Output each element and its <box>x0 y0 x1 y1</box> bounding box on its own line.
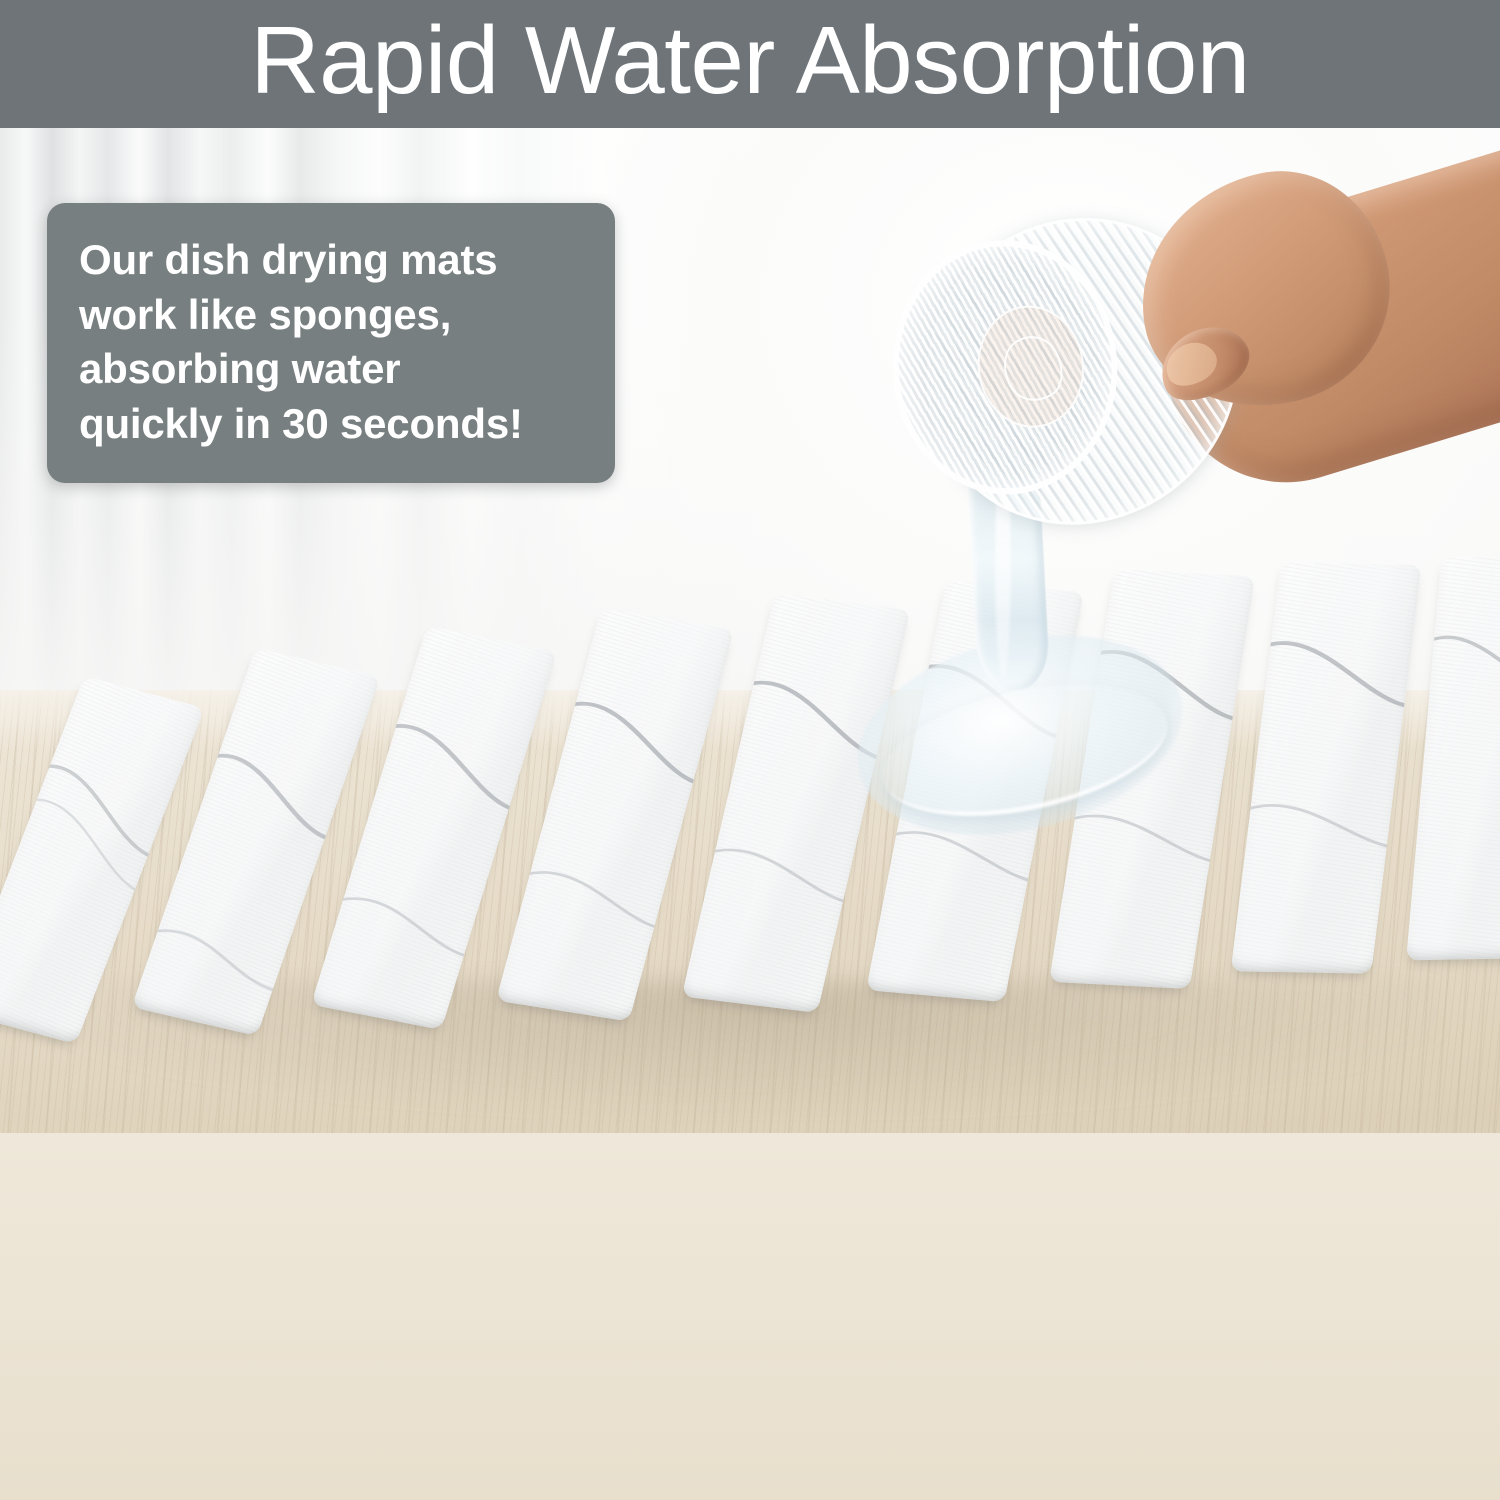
caption-text: Our dish drying mats work like sponges, … <box>79 233 579 451</box>
mat-pattern <box>1406 556 1500 961</box>
hero-photo <box>0 0 1500 1140</box>
absorption-timeline-strip: 5 Seconds <box>0 1133 1500 1500</box>
dish-drying-mat <box>0 530 1500 1090</box>
mat-slat <box>1406 556 1500 961</box>
mat-pattern <box>1231 562 1422 973</box>
caption-box: Our dish drying mats work like sponges, … <box>47 203 615 483</box>
product-infographic: Rapid Water Absorption Our dish drying m… <box>0 0 1500 1500</box>
mat-slat <box>1231 562 1422 973</box>
header-banner: Rapid Water Absorption <box>0 0 1500 128</box>
page-title: Rapid Water Absorption <box>250 13 1249 109</box>
glass-etching <box>958 283 1104 450</box>
